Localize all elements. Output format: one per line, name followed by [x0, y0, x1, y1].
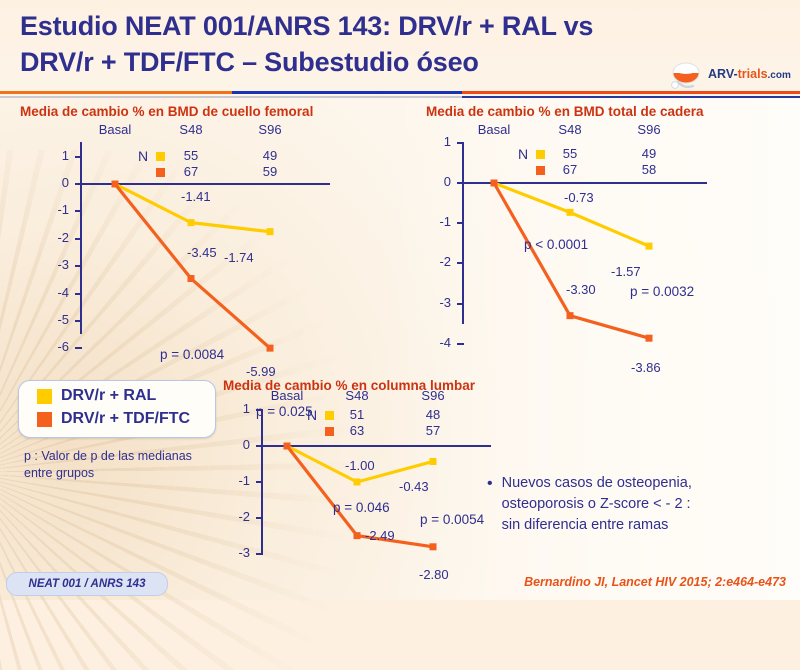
data-point-marker [567, 312, 574, 319]
series-line [115, 184, 270, 348]
data-point-marker [646, 335, 653, 342]
chart-femoral-neck: Media de cambio % en BMD de cuello femor… [10, 104, 410, 364]
citation-reference: Bernardino JI, Lancet HIV 2015; 2:e464-e… [524, 575, 786, 589]
series-lines-total-hip [418, 104, 800, 364]
header-rule-blue-bottom [462, 96, 800, 98]
data-point-marker [267, 345, 274, 352]
data-point-marker [188, 275, 195, 282]
plot-area-total-hip: 10-1-2-3-4 BasalS48S96 N 55496758 -0.73-… [418, 104, 800, 364]
pill-capsule-icon [664, 60, 708, 92]
data-point-label: -0.43 [399, 479, 429, 494]
data-point-marker [567, 209, 574, 216]
plot-area-femoral-neck: 10-1-2-3-4-5-6 BasalS48S96 N 55496759 -1… [10, 104, 410, 364]
data-point-label: -1.00 [345, 458, 375, 473]
conclusion-bullet-text: Nuevos casos de osteopenia, osteoporosis… [502, 473, 692, 536]
legend-swatch-orange [37, 412, 52, 427]
data-point-marker [188, 219, 195, 226]
data-point-label: -5.99 [246, 364, 276, 379]
logo-text-arv: ARV- [708, 67, 738, 81]
data-point-marker [267, 228, 274, 235]
legend-item-drvr-tdf-ftc: DRV/r + TDF/FTC [37, 410, 190, 428]
series-lines-femoral-neck [10, 104, 410, 364]
series-legend: DRV/r + RAL DRV/r + TDF/FTC [18, 380, 216, 438]
data-point-label: -1.74 [224, 250, 254, 265]
p-value-s96-lumbar-spine: p = 0.0054 [420, 512, 484, 527]
data-point-label: -1.57 [611, 264, 641, 279]
data-point-label: -3.30 [566, 282, 596, 297]
study-badge-label: NEAT 001 / ANRS 143 [29, 578, 146, 590]
logo-wordmark: ARV-trials.com [708, 67, 791, 81]
study-badge: NEAT 001 / ANRS 143 [6, 572, 168, 596]
conclusion-bullet: • Nuevos casos de osteopenia, osteoporos… [487, 473, 787, 536]
data-point-label: -2.49 [365, 528, 395, 543]
bullet-marker-icon: • [487, 473, 493, 536]
legend-swatch-yellow [37, 389, 52, 404]
p-value-s48-total-hip: p < 0.0001 [524, 237, 588, 252]
data-point-label: -2.80 [419, 567, 449, 582]
chart-total-hip: Media de cambio % en BMD total de cadera… [418, 104, 800, 364]
header-rule-blue-middle [232, 91, 462, 94]
data-point-marker [491, 180, 498, 187]
arv-trials-logo: ARV-trials.com [664, 60, 792, 92]
data-point-label: -1.41 [181, 189, 211, 204]
data-point-marker [430, 543, 437, 550]
legend-item-drvr-ral: DRV/r + RAL [37, 387, 156, 405]
header-rule-orange-right [462, 91, 800, 94]
slide-header: Estudio NEAT 001/ANRS 143: DRV/r + RAL v… [0, 0, 800, 96]
logo-text-trials: trials [738, 67, 768, 81]
data-point-marker [430, 458, 437, 465]
data-point-marker [646, 243, 653, 250]
logo-text-com: .com [768, 70, 791, 81]
data-point-label: -3.86 [631, 360, 661, 375]
data-point-marker [354, 479, 361, 486]
legend-label-drvr-tdf-ftc: DRV/r + TDF/FTC [61, 410, 190, 428]
legend-label-drvr-ral: DRV/r + RAL [61, 387, 156, 405]
page-title: Estudio NEAT 001/ANRS 143: DRV/r + RAL v… [20, 8, 680, 80]
data-point-label: -3.45 [187, 245, 217, 260]
p-value-footnote: p : Valor de p de las medianas entre gru… [24, 448, 224, 482]
data-point-label: -0.73 [564, 190, 594, 205]
p-value-s48-femoral-neck: p = 0.0084 [160, 347, 224, 362]
data-point-marker [112, 181, 119, 188]
p-value-s96-total-hip: p = 0.0032 [630, 284, 694, 299]
data-point-marker [284, 443, 291, 450]
header-rule-orange-left [0, 91, 232, 94]
p-value-s48-lumbar-spine: p = 0.046 [333, 500, 390, 515]
data-point-marker [354, 532, 361, 539]
